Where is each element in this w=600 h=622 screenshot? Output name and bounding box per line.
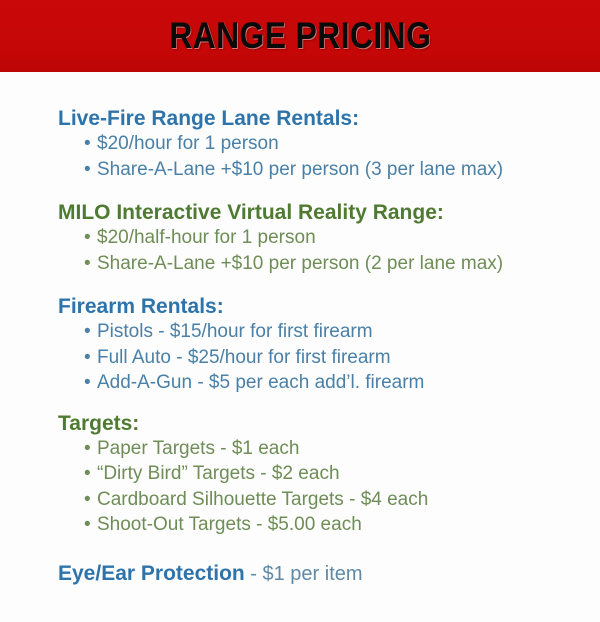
list-item-label: Pistols - $15/hour for first firearm	[97, 321, 373, 342]
list-item-label: Add-A-Gun - $5 per each add’l. firearm	[97, 372, 424, 393]
list-item: • $20/half-hour for 1 person	[84, 225, 586, 251]
list-item: • Share-A-Lane +$10 per person (2 per la…	[84, 251, 586, 277]
section-heading-targets: Targets:	[0, 411, 586, 436]
section-heading-live-fire: Live-Fire Range Lane Rentals:	[0, 106, 586, 131]
list-item: • $20/hour for 1 person	[84, 131, 586, 157]
list-item-label: “Dirty Bird” Targets - $2 each	[97, 463, 340, 484]
header-banner: RANGE PRICING	[0, 0, 600, 72]
price-list-firearm-rentals: • Pistols - $15/hour for first firearm •…	[0, 319, 586, 396]
list-item-label: Paper Targets - $1 each	[97, 438, 299, 459]
pricing-content: Live-Fire Range Lane Rentals: • $20/hour…	[0, 72, 600, 587]
section-heading-firearm-rentals: Firearm Rentals:	[0, 294, 586, 319]
bullet-icon: •	[84, 487, 91, 513]
list-item: • Cardboard Silhouette Targets - $4 each	[84, 487, 586, 513]
list-item-label: $20/hour for 1 person	[97, 133, 279, 154]
list-item: • Share-A-Lane +$10 per person (3 per la…	[84, 157, 586, 183]
list-item-label: Share-A-Lane +$10 per person (3 per lane…	[97, 159, 503, 180]
bullet-icon: •	[84, 319, 91, 345]
price-list-milo: • $20/half-hour for 1 person • Share-A-L…	[0, 225, 586, 276]
bullet-icon: •	[84, 370, 91, 396]
price-list-targets: • Paper Targets - $1 each • “Dirty Bird”…	[0, 436, 586, 538]
range-pricing-flyer: RANGE PRICING Live-Fire Range Lane Renta…	[0, 0, 600, 622]
bullet-icon: •	[84, 225, 91, 251]
page-title: RANGE PRICING	[169, 17, 431, 55]
section-live-fire-range-lane-rentals: Live-Fire Range Lane Rentals: • $20/hour…	[0, 72, 586, 182]
bullet-icon: •	[84, 157, 91, 183]
bullet-icon: •	[84, 512, 91, 538]
list-item: • Add-A-Gun - $5 per each add’l. firearm	[84, 370, 586, 396]
list-item-label: Shoot-Out Targets - $5.00 each	[97, 514, 362, 535]
list-item: • Paper Targets - $1 each	[84, 436, 586, 462]
list-item: • Pistols - $15/hour for first firearm	[84, 319, 586, 345]
bullet-icon: •	[84, 436, 91, 462]
bullet-icon: •	[84, 131, 91, 157]
list-item-label: Share-A-Lane +$10 per person (2 per lane…	[97, 253, 503, 274]
section-firearm-rentals: Firearm Rentals: • Pistols - $15/hour fo…	[0, 276, 586, 396]
price-list-live-fire: • $20/hour for 1 person • Share-A-Lane +…	[0, 131, 586, 182]
bullet-icon: •	[84, 461, 91, 487]
list-item: • Shoot-Out Targets - $5.00 each	[84, 512, 586, 538]
list-item: • Full Auto - $25/hour for first firearm	[84, 345, 586, 371]
list-item-label: Cardboard Silhouette Targets - $4 each	[97, 489, 428, 510]
bullet-icon: •	[84, 251, 91, 277]
eye-ear-protection-line: Eye/Ear Protection - $1 per item	[0, 538, 586, 587]
eye-ear-protection-label: Eye/Ear Protection	[58, 562, 245, 585]
section-targets: Targets: • Paper Targets - $1 each • “Di…	[0, 396, 586, 538]
list-item-label: Full Auto - $25/hour for first firearm	[97, 347, 391, 368]
bullet-icon: •	[84, 345, 91, 371]
eye-ear-protection-price: - $1 per item	[245, 563, 363, 585]
section-heading-milo: MILO Interactive Virtual Reality Range:	[0, 200, 586, 225]
list-item-label: $20/half-hour for 1 person	[97, 227, 316, 248]
list-item: • “Dirty Bird” Targets - $2 each	[84, 461, 586, 487]
section-milo-interactive-virtual-reality-range: MILO Interactive Virtual Reality Range: …	[0, 182, 586, 276]
